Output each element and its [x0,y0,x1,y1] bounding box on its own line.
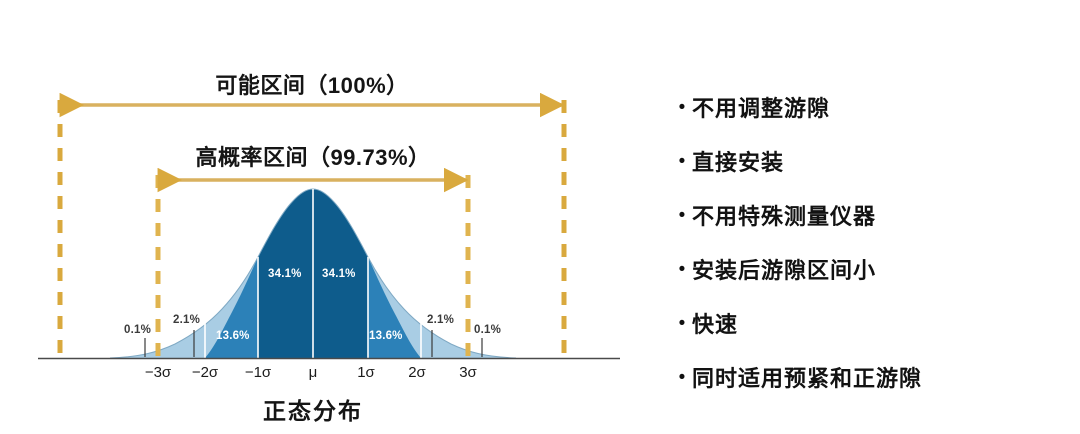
list-item-label: 同时适用预紧和正游隙 [692,361,922,393]
tick-label-neg-3sigma: −3σ [145,364,171,381]
bullet-dot-icon: • [672,98,692,117]
percent-label-neg-1sigma: 34.1% [268,268,302,280]
tick-label-neg-2sigma: −2σ [192,364,218,381]
list-item: • 同时适用预紧和正游隙 [672,350,1072,404]
bullet-dot-icon: • [672,260,692,279]
normal-distribution-chart: 可能区间（100%） 高概率区间（99.73%） 34.1% 34.1% 13.… [0,0,660,434]
percent-label-pos-tail: 0.1% [474,324,501,336]
tick-label-pos-2sigma: 2σ [408,364,426,381]
tick-label-pos-3sigma: 3σ [459,364,477,381]
bullet-dot-icon: • [672,314,692,333]
list-item: • 不用特殊测量仪器 [672,188,1072,242]
bullet-dot-icon: • [672,152,692,171]
bullet-dot-icon: • [672,206,692,225]
list-item: • 安装后游隙区间小 [672,242,1072,296]
list-item: • 直接安装 [672,134,1072,188]
tick-label-pos-1sigma: 1σ [357,364,375,381]
list-item: • 快速 [672,296,1072,350]
percent-label-neg-3sigma: 2.1% [173,314,200,326]
list-item-label: 不用调整游隙 [692,91,830,123]
distribution-graphic [0,0,660,434]
list-item-label: 不用特殊测量仪器 [692,199,876,231]
list-item-label: 快速 [692,307,738,339]
list-item: • 不用调整游隙 [672,80,1072,134]
tick-label-mu: μ [309,364,318,381]
slide-canvas: 可能区间（100%） 高概率区间（99.73%） 34.1% 34.1% 13.… [0,0,1080,434]
high-probability-range-label: 高概率区间（99.73%） [158,140,468,172]
possible-range-label: 可能区间（100%） [60,68,564,100]
percent-label-pos-3sigma: 2.1% [427,314,454,326]
tick-label-neg-1sigma: −1σ [245,364,271,381]
benefits-bullet-list: • 不用调整游隙 • 直接安装 • 不用特殊测量仪器 • 安装后游隙区间小 • … [672,80,1072,410]
percent-label-neg-tail: 0.1% [124,324,151,336]
list-item-label: 安装后游隙区间小 [692,253,876,285]
bullet-dot-icon: • [672,368,692,387]
chart-caption: 正态分布 [158,392,468,426]
percent-label-pos-1sigma: 34.1% [322,268,356,280]
percent-label-neg-2sigma: 13.6% [216,330,250,342]
list-item-label: 直接安装 [692,145,784,177]
percent-label-pos-2sigma: 13.6% [369,330,403,342]
